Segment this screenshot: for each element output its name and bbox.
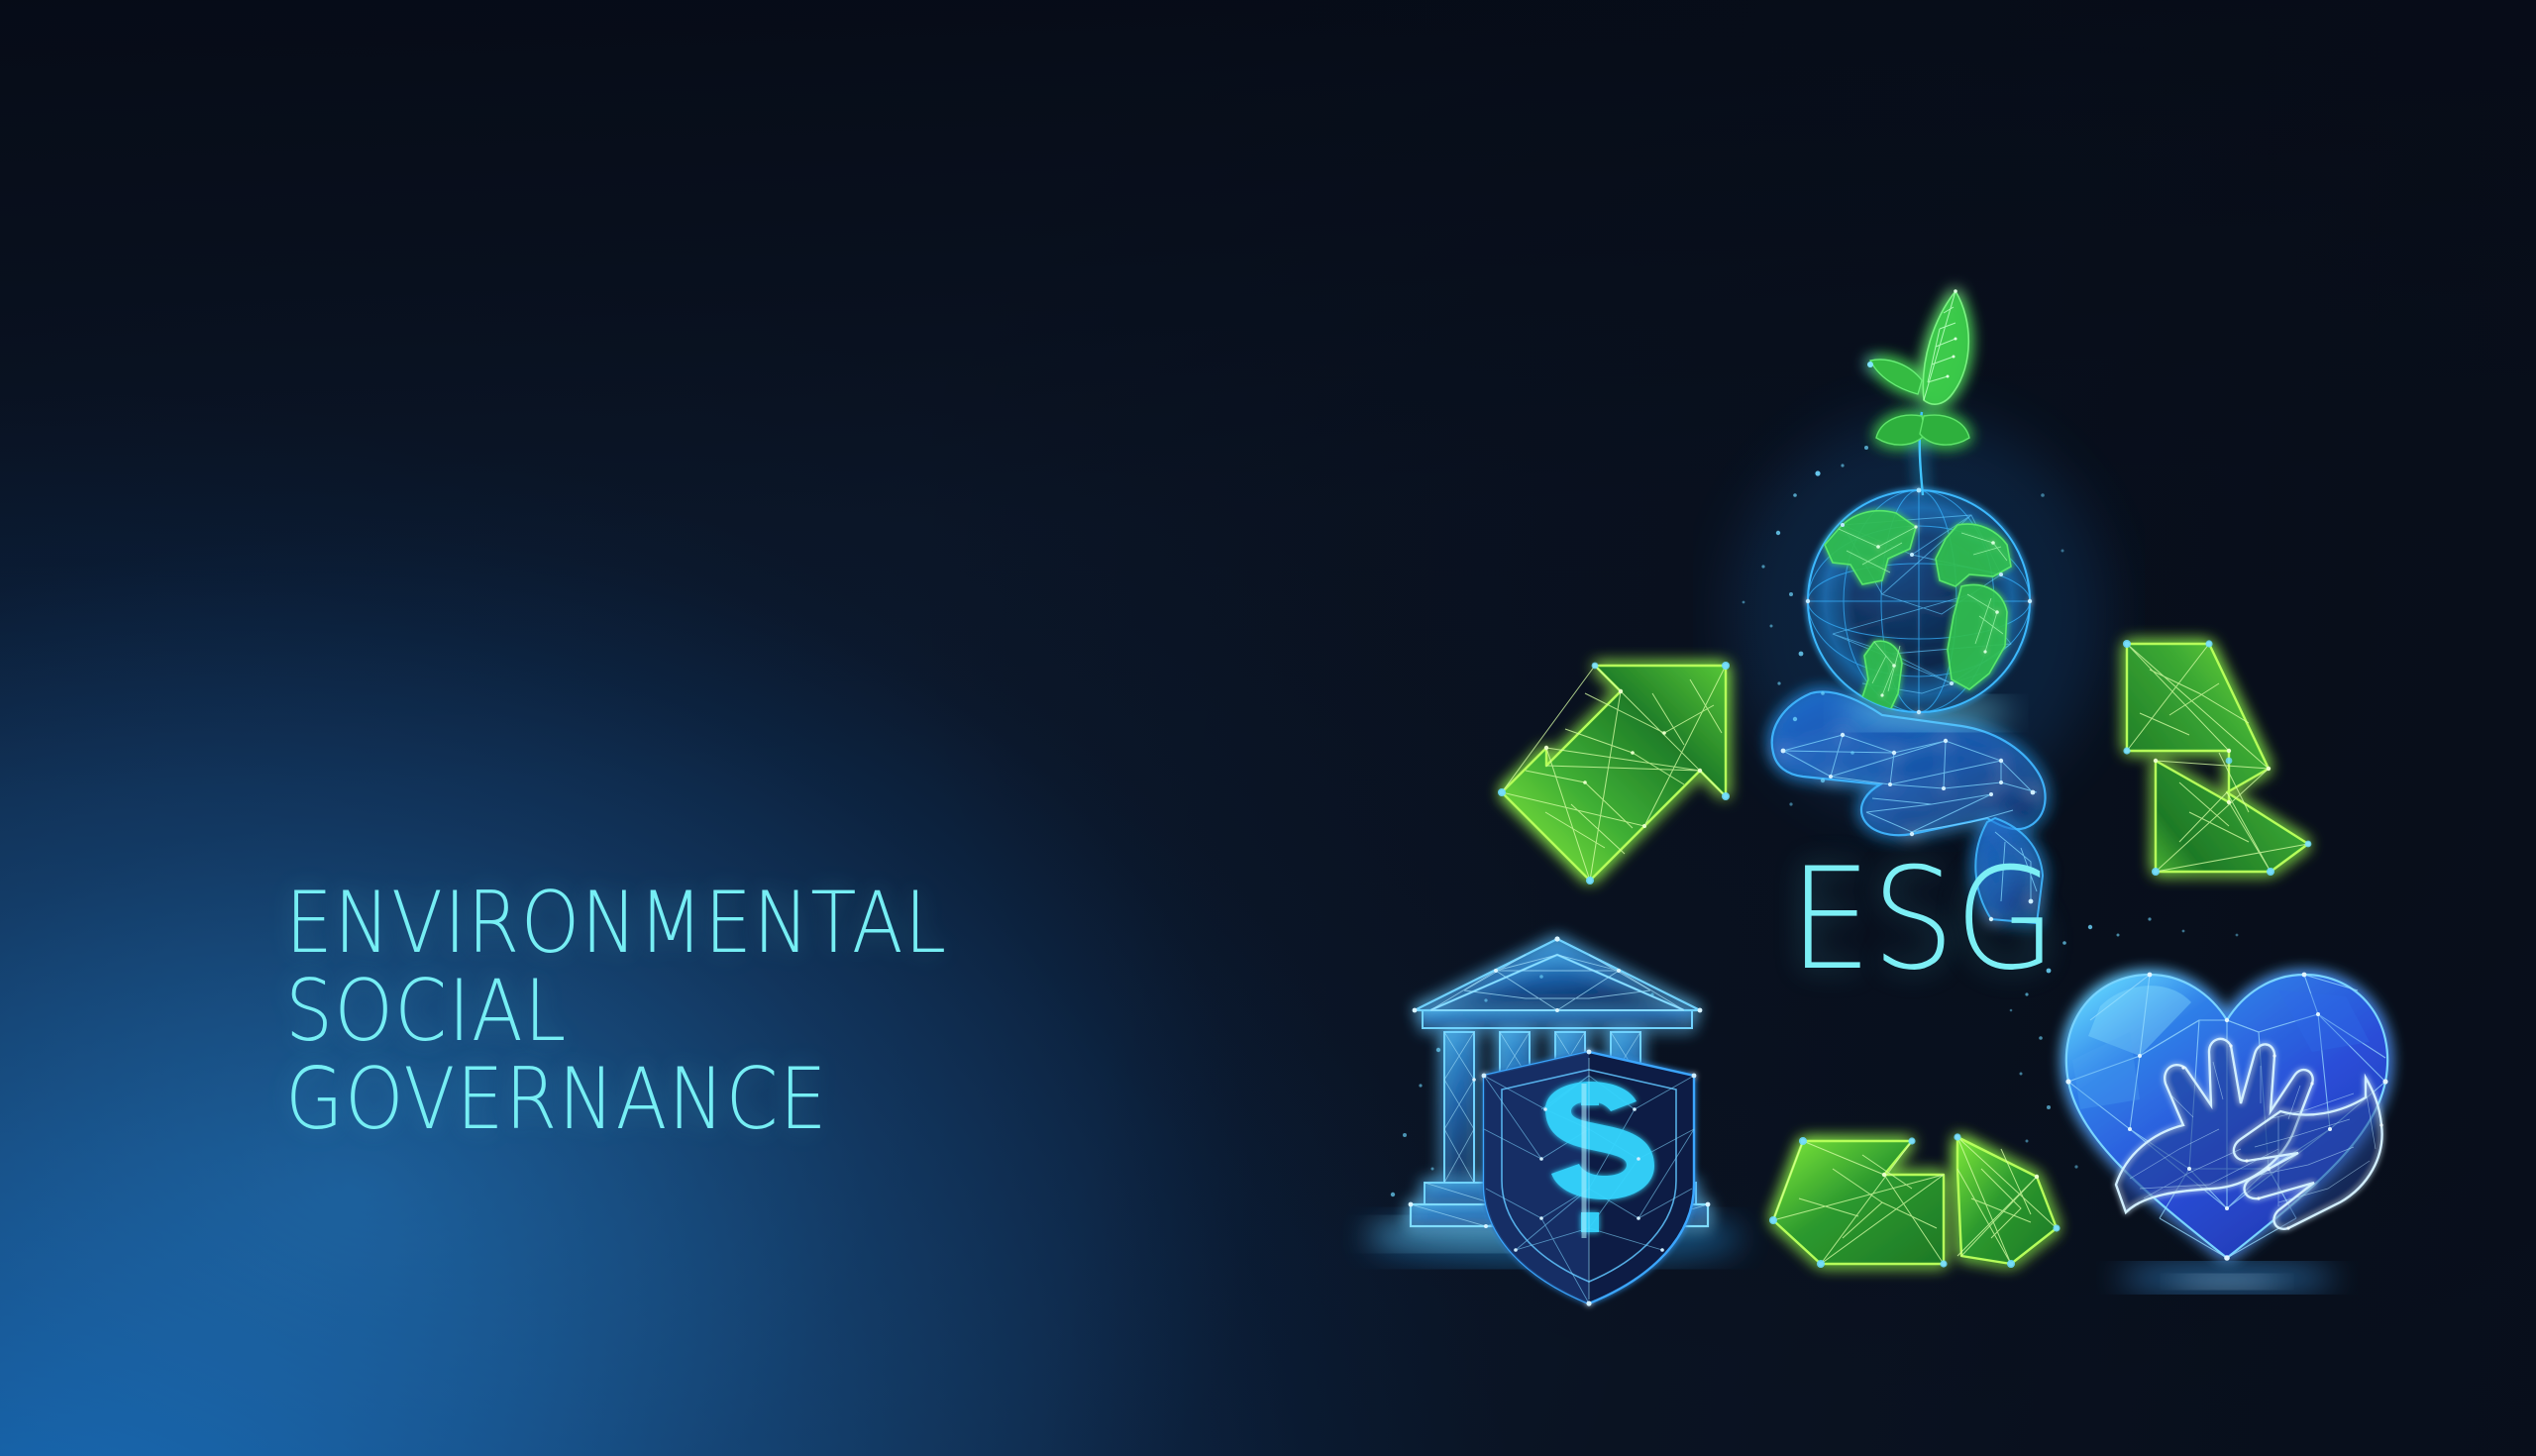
- esg-label-text: ESG: [1789, 850, 2057, 990]
- artwork-layer: [0, 0, 2536, 1456]
- headline-line-governance: GOVERNANCE: [285, 1056, 947, 1144]
- globe-in-hand-icon: [1731, 289, 2107, 923]
- recycle-arrow-bottom: [1769, 1133, 2060, 1268]
- recycle-arrow-upper-right: [2123, 640, 2311, 876]
- bank-with-dollar-shield-icon: [1367, 936, 1743, 1305]
- headline-block: ENVIRONMENTAL SOCIAL GOVERNANCE: [285, 880, 1038, 1144]
- headline-line-social: SOCIAL: [285, 968, 947, 1056]
- recycle-arrow-upper-left: [1498, 662, 1730, 884]
- esg-label: ESG: [1789, 850, 2076, 990]
- esg-banner: ENVIRONMENTAL SOCIAL GOVERNANCE ESG: [0, 0, 2536, 1456]
- headline-line-environmental: ENVIRONMENTAL: [285, 880, 947, 968]
